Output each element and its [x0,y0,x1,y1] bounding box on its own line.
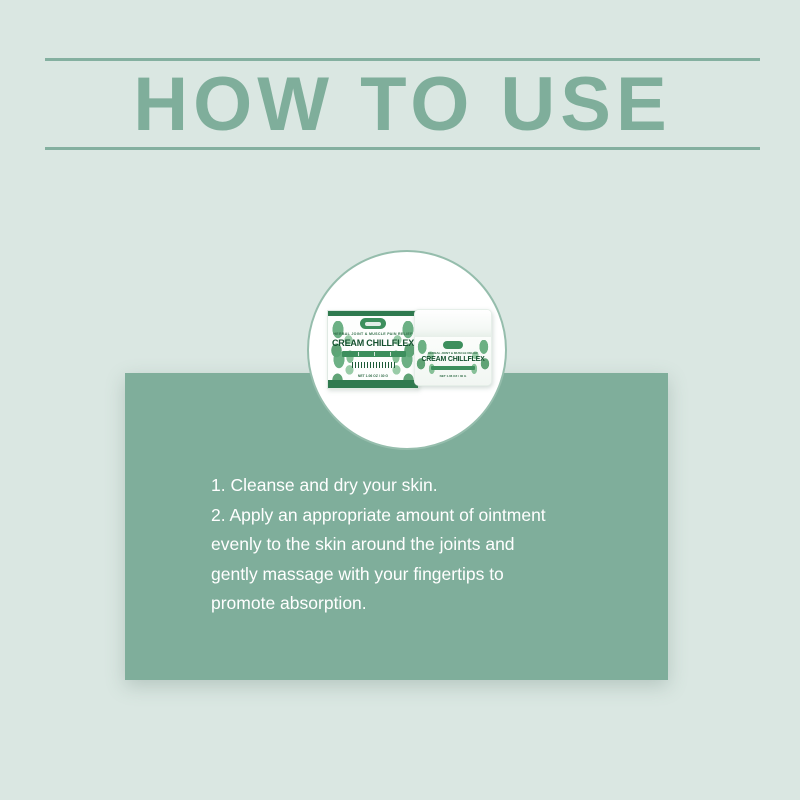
header: HOW TO USE [45,58,760,153]
instruction-line: gently massage with your fingertips to [211,560,611,590]
carton-brand-name: CREAM CHILLFLEX [328,338,418,348]
strip-divider [374,352,375,356]
instruction-line: 1. Cleanse and dry your skin. [211,471,611,501]
jar-brand-name: CREAM CHILLFLEX [415,356,491,363]
barcode-icon [352,362,396,368]
how-to-use-poster: HOW TO USE 1. Cleanse and dry your skin.… [0,0,800,800]
instruction-line: 2. Apply an appropriate amount of ointme… [211,501,611,531]
instructions-text: 1. Cleanse and dry your skin. 2. Apply a… [211,471,611,619]
product-carton: HERBAL JOINT & MUSCLE PAIN RELIEF CREAM … [327,310,419,389]
page-title: HOW TO USE [45,64,760,146]
product-jar: HERBAL JOINT & MUSCLE RELIEF CREAM CHILL… [414,309,492,386]
instruction-line: evenly to the skin around the joints and [211,530,611,560]
jar-net-weight: NET 1.06 OZ / 30 G [415,374,491,378]
brand-logo-icon [360,318,386,329]
product-photo: HERBAL JOINT & MUSCLE PAIN RELIEF CREAM … [309,252,507,450]
header-rule-bottom [45,147,760,150]
carton-feature-strip [342,351,406,357]
carton-top-band [328,311,418,316]
jar-lid [415,310,491,338]
carton-tagline: HERBAL JOINT & MUSCLE PAIN RELIEF [328,332,418,336]
product-image-badge: HERBAL JOINT & MUSCLE PAIN RELIEF CREAM … [307,250,507,450]
logo-leaf-icon [365,322,381,326]
jar-tagline: HERBAL JOINT & MUSCLE RELIEF [415,351,491,355]
instruction-line: promote absorption. [211,589,611,619]
brand-logo-icon [443,341,463,349]
jar-feature-strip [431,366,475,370]
carton-bottom-band [328,380,418,388]
carton-net-weight: NET 1.06 OZ / 30 G [328,374,418,378]
strip-divider [358,352,359,356]
strip-divider [390,352,391,356]
header-rule-top [45,58,760,61]
